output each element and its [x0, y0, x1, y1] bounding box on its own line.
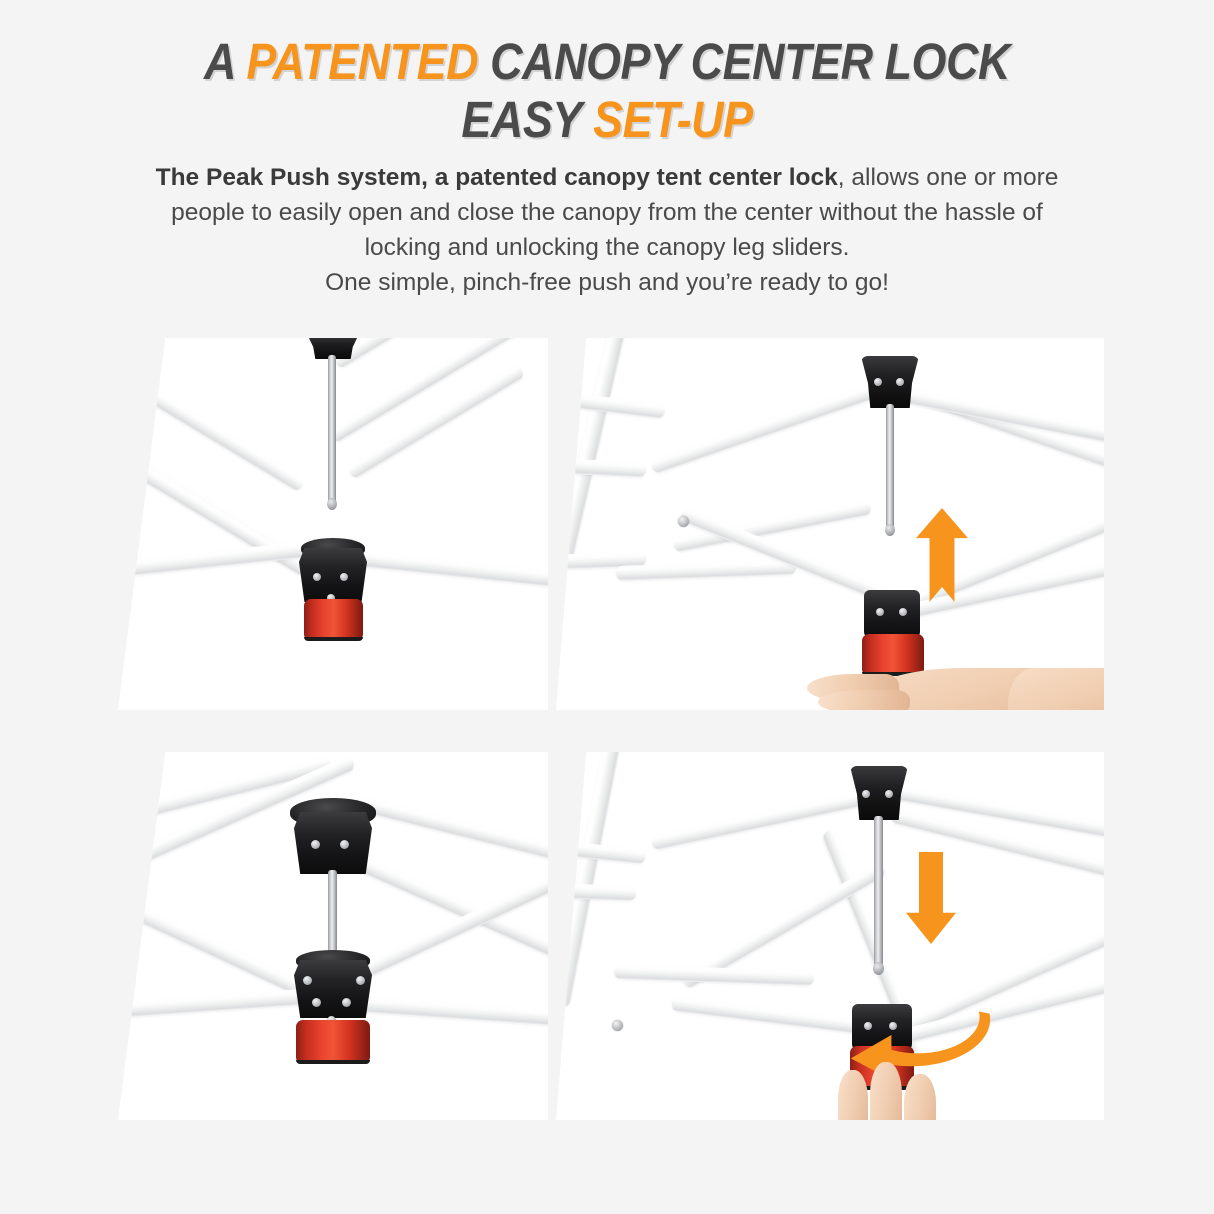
- tube-joint-bead: [678, 516, 689, 527]
- finger: [818, 690, 910, 710]
- frame-tube: [353, 550, 548, 590]
- push-rod-tip: [885, 524, 895, 536]
- push-rod-tip: [327, 498, 337, 510]
- hub-rivet: [311, 840, 320, 849]
- rotate-arrow-icon: [842, 988, 992, 1084]
- headline-highlight-setup: SET-UP: [593, 91, 752, 148]
- body-copy: The Peak Push system, a patented canopy …: [72, 160, 1142, 300]
- red-push-cap: [304, 599, 363, 641]
- body-line-3: locking and unlocking the canopy leg sli…: [72, 230, 1142, 265]
- frame-tube: [650, 379, 891, 475]
- hub-rivet: [896, 378, 904, 386]
- panel-4-hand-rotating-lock: [556, 752, 1104, 1120]
- push-rod: [328, 355, 336, 503]
- frame-tube: [118, 988, 318, 1020]
- arrow-down-icon: [906, 852, 956, 944]
- panel-4-scene: [556, 752, 1104, 1120]
- frame-tube: [556, 882, 636, 901]
- frame-tube: [556, 456, 646, 478]
- hub-rivet: [885, 790, 893, 798]
- hub-rivet: [313, 573, 321, 581]
- top-hub: [861, 356, 919, 408]
- hub-rivet: [876, 608, 884, 616]
- headline-line-2: EASY SET-UP: [73, 94, 1141, 145]
- wrist: [1008, 668, 1104, 710]
- infographic-page: A PATENTED CANOPY CENTER LOCK EASY SET-U…: [0, 0, 1214, 1214]
- upper-hub-body: [294, 812, 372, 874]
- hub-rivet: [312, 998, 321, 1007]
- top-hub: [850, 766, 908, 820]
- finger: [870, 1062, 902, 1120]
- body-line-1: The Peak Push system, a patented canopy …: [72, 160, 1142, 195]
- panel-3-canopy-frame-locked: [118, 752, 548, 1120]
- hub-rivet: [303, 976, 312, 985]
- panel-1-canopy-frame-unlocked: [118, 338, 548, 710]
- frame-tube: [118, 351, 306, 493]
- body-line-2: people to easily open and close the cano…: [72, 195, 1142, 230]
- push-rod-tip: [873, 962, 884, 975]
- frame-tube: [614, 964, 814, 986]
- headline-highlight-patented: PATENTED: [246, 33, 478, 90]
- hub-rivet: [340, 573, 348, 581]
- center-hub-body: [294, 960, 372, 1018]
- frame-tube: [352, 794, 548, 870]
- hub-rivet: [862, 790, 870, 798]
- finger: [904, 1074, 936, 1120]
- push-rod: [874, 816, 883, 966]
- frame-tube: [903, 388, 1104, 447]
- center-hub-body: [864, 590, 920, 638]
- panel-3-scene: [118, 752, 548, 1120]
- red-push-cap: [296, 1020, 370, 1064]
- frame-tube: [357, 996, 548, 1028]
- frame-tube: [650, 786, 888, 851]
- push-rod: [328, 870, 337, 960]
- panel-1-scene: [118, 338, 548, 710]
- frame-leg-tube: [556, 338, 631, 563]
- tube-joint-bead: [612, 1020, 623, 1031]
- body-line-1-rest: , allows one or more: [838, 164, 1059, 191]
- red-push-cap: [862, 634, 924, 676]
- page-title: A PATENTED CANOPY CENTER LOCK EASY SET-U…: [0, 36, 1214, 145]
- headline-text-a: A: [204, 33, 246, 90]
- headline-text-easy: EASY: [461, 91, 593, 148]
- body-line-4: One simple, pinch-free push and you’re r…: [72, 265, 1142, 300]
- push-rod: [886, 404, 894, 529]
- finger: [838, 1070, 868, 1120]
- hub-rivet: [356, 976, 365, 985]
- hub-rivet: [340, 840, 349, 849]
- frame-tube: [889, 784, 1104, 840]
- panel-2-hand-pushing-up: [556, 338, 1104, 710]
- hub-rivet: [899, 608, 907, 616]
- headline-line-1: A PATENTED CANOPY CENTER LOCK: [73, 36, 1141, 87]
- body-bold-lead: The Peak Push system, a patented canopy …: [156, 164, 838, 191]
- hub-rivet: [874, 378, 882, 386]
- hub-rivet: [342, 998, 351, 1007]
- headline-text-canopy-center-lock: CANOPY CENTER LOCK: [478, 33, 1010, 90]
- panel-2-scene: [556, 338, 1104, 710]
